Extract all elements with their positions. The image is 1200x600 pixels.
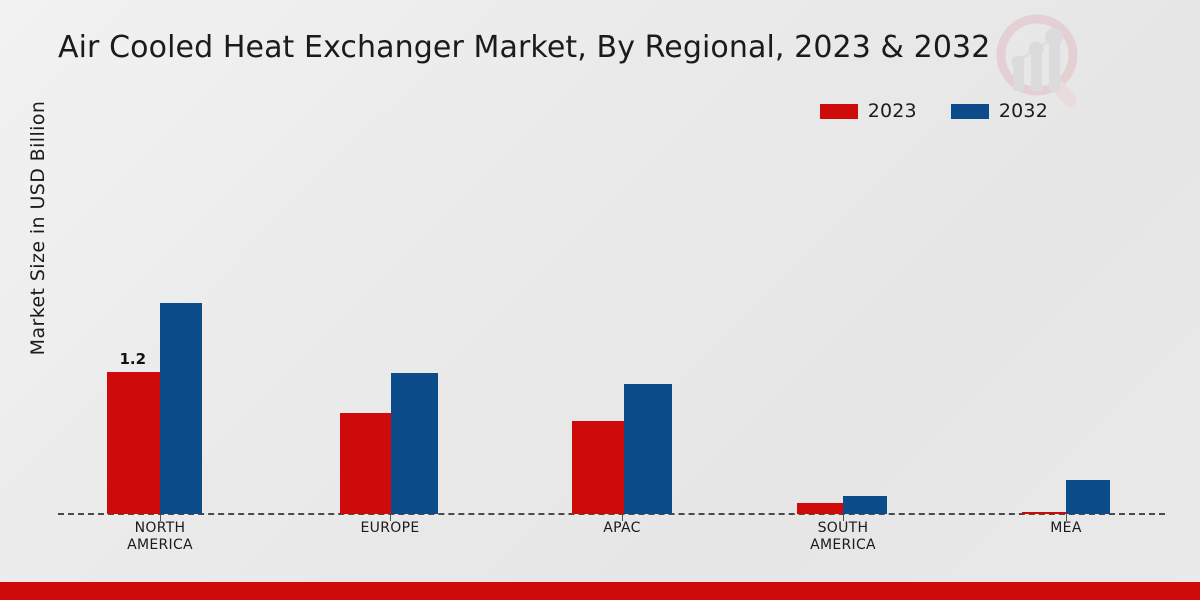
bar-2023-2[interactable] xyxy=(572,421,624,514)
x-axis-label-0: NORTH AMERICA xyxy=(80,520,240,554)
bar-2032-4[interactable] xyxy=(1066,480,1110,514)
bar-2023-3[interactable] xyxy=(797,503,843,514)
bar-value-label-0: 1.2 xyxy=(120,350,147,368)
bar-2023-0[interactable] xyxy=(107,372,160,514)
x-axis-label-4: MEA xyxy=(986,520,1146,537)
bar-2032-3[interactable] xyxy=(843,496,887,514)
x-axis-label-3: SOUTH AMERICA xyxy=(763,520,923,554)
bar-2032-2[interactable] xyxy=(624,384,672,514)
chart-container: Air Cooled Heat Exchanger Market, By Reg… xyxy=(0,0,1200,600)
bar-2023-1[interactable] xyxy=(340,413,391,514)
bar-2032-1[interactable] xyxy=(391,373,438,514)
plot-area: NORTH AMERICAEUROPEAPACSOUTH AMERICAMEA1… xyxy=(0,0,1200,600)
x-axis-label-2: APAC xyxy=(542,520,702,537)
x-axis-label-1: EUROPE xyxy=(310,520,470,537)
bar-2023-4[interactable] xyxy=(1022,512,1066,514)
footer-stripe xyxy=(0,582,1200,600)
bar-2032-0[interactable] xyxy=(160,303,202,514)
